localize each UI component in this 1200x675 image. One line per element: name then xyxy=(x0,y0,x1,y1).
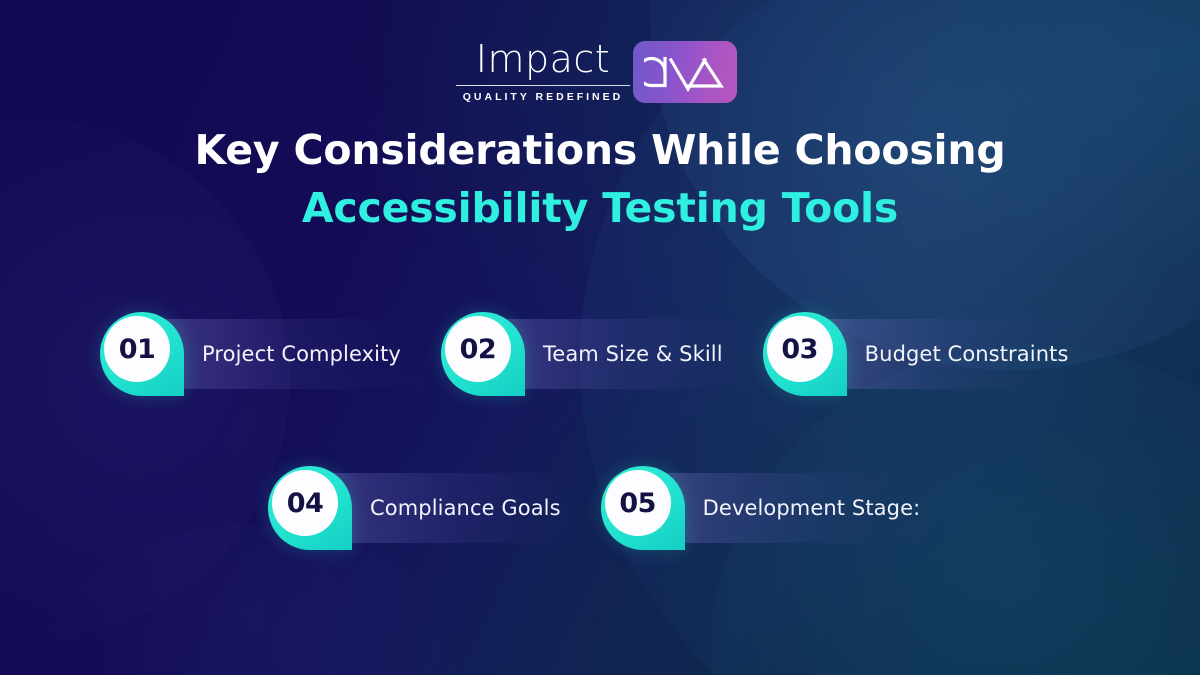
number-badge-circle: 02 xyxy=(445,316,511,382)
item-number: 02 xyxy=(460,334,497,365)
number-badge-circle: 05 xyxy=(605,470,671,536)
brand-name: Impact xyxy=(476,40,610,78)
number-badge-circle: 04 xyxy=(272,470,338,536)
item-label: Team Size & Skill xyxy=(543,342,723,366)
item-label: Compliance Goals xyxy=(370,496,561,520)
number-badge: 05 xyxy=(601,466,685,550)
item-number: 03 xyxy=(781,334,818,365)
item-number: 04 xyxy=(287,488,324,519)
title-line-highlight: Accessibility Testing Tools xyxy=(0,186,1200,232)
item-label: Project Complexity xyxy=(202,342,401,366)
consideration-item-01[interactable]: 01 Project Complexity xyxy=(100,310,401,398)
item-number: 01 xyxy=(119,334,156,365)
consideration-item-02[interactable]: 02 Team Size & Skill xyxy=(441,310,723,398)
consideration-item-05[interactable]: 05 Development Stage: xyxy=(601,464,921,552)
consideration-item-04[interactable]: 04 Compliance Goals xyxy=(268,464,561,552)
title-line-primary: Key Considerations While Choosing xyxy=(0,128,1200,174)
number-badge-circle: 03 xyxy=(767,316,833,382)
number-badge: 03 xyxy=(763,312,847,396)
consideration-row-bottom: 04 Compliance Goals 05 Development Stage… xyxy=(268,464,920,552)
page-title: Key Considerations While Choosing Access… xyxy=(0,128,1200,232)
infographic-canvas: Impact QUALITY REDEFINED Key Considerati… xyxy=(0,0,1200,675)
item-label: Budget Constraints xyxy=(865,342,1069,366)
consideration-item-03[interactable]: 03 Budget Constraints xyxy=(763,310,1069,398)
consideration-row-top: 01 Project Complexity 02 Team Size & Ski… xyxy=(100,310,1068,398)
brand-tagline: QUALITY REDEFINED xyxy=(456,85,629,103)
number-badge-circle: 01 xyxy=(104,316,170,382)
item-number: 05 xyxy=(619,488,656,519)
number-badge: 02 xyxy=(441,312,525,396)
number-badge: 01 xyxy=(100,312,184,396)
qa-badge-icon xyxy=(633,41,737,103)
brand-logo: Impact QUALITY REDEFINED xyxy=(0,40,1200,103)
brand-wordmark: Impact QUALITY REDEFINED xyxy=(463,40,623,103)
item-label: Development Stage: xyxy=(703,496,921,520)
number-badge: 04 xyxy=(268,466,352,550)
